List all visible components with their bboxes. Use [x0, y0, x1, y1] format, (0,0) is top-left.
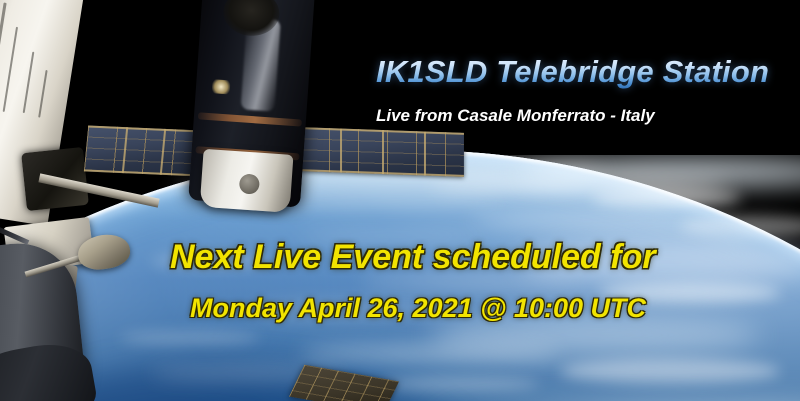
- solar-array-right: [300, 127, 464, 177]
- array-spar: [122, 127, 128, 173]
- truss-detail-line: [3, 27, 18, 112]
- solar-array-left: [84, 126, 204, 177]
- docking-port: [239, 173, 260, 194]
- truss-detail-line: [23, 52, 35, 114]
- progress-docking-section: [200, 149, 294, 213]
- hull-specular-glint: [212, 79, 231, 94]
- array-spar: [340, 129, 342, 173]
- array-spar: [424, 131, 426, 175]
- event-dateline: Monday April 26, 2021 @ 10:00 UTC: [190, 293, 710, 324]
- progress-resupply-vehicle: ПРОГРЕСС: [188, 0, 316, 208]
- cloud-patch: [560, 359, 780, 383]
- cloud-streak: [300, 345, 560, 361]
- page-title: IK1SLD Telebridge Station: [376, 54, 780, 90]
- array-spar: [160, 129, 166, 175]
- cloud-patch: [120, 331, 260, 345]
- cloud-patch: [592, 189, 742, 207]
- truss-detail-line: [38, 70, 47, 118]
- cloud-patch: [680, 215, 800, 237]
- cloud-patch: [380, 377, 540, 391]
- event-headline: Next Live Event scheduled for: [170, 238, 730, 277]
- page-subtitle: Live from Casale Monferrato - Italy: [376, 106, 780, 126]
- array-spar: [382, 130, 384, 174]
- iss-telebridge-banner: ПРОГРЕСС IK1SLD Telebridge Station Live …: [0, 0, 800, 401]
